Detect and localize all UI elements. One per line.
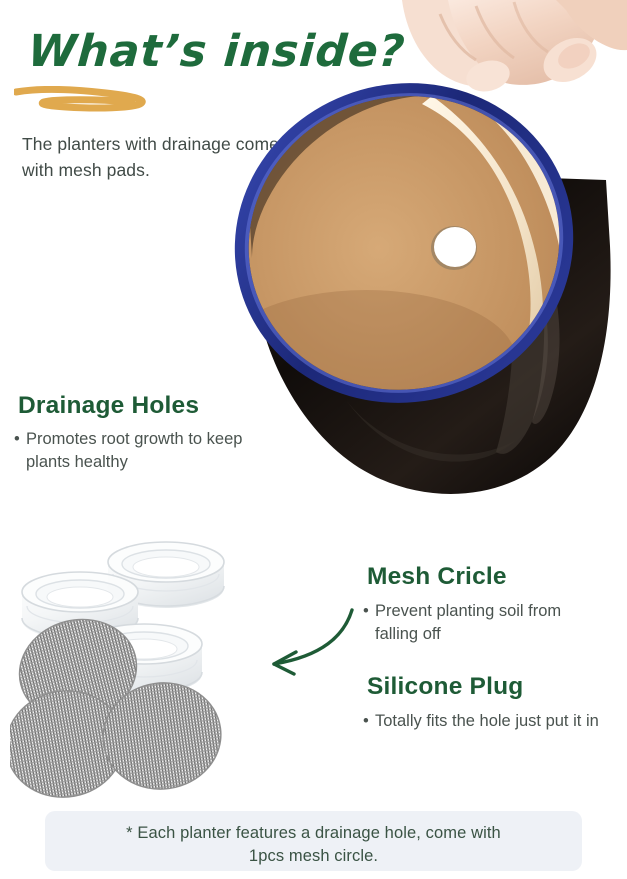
curved-arrow-icon <box>244 600 364 680</box>
plug-body-text: Totally fits the hole just put it in <box>363 710 615 733</box>
hand <box>402 0 627 96</box>
drainage-body: • Promotes root growth to keep plants he… <box>14 428 244 475</box>
drainage-heading: Drainage Holes <box>18 392 199 420</box>
footer-line-2: 1pcs mesh circle. <box>249 847 378 865</box>
drainage-hole <box>434 227 476 267</box>
bullet-icon: • <box>363 600 369 623</box>
mesh-heading: Mesh Cricle <box>367 563 507 591</box>
plug-heading: Silicone Plug <box>367 673 523 701</box>
bullet-icon: • <box>14 428 20 451</box>
title-underline-swoosh <box>14 86 160 112</box>
footer-note-text: * Each planter features a drainage hole,… <box>45 822 582 868</box>
footer-note-banner: * Each planter features a drainage hole,… <box>45 811 582 871</box>
planter-pot-photo <box>226 0 627 512</box>
mesh-body-text: Prevent planting soil from falling off <box>363 600 608 647</box>
plug-body: • Totally fits the hole just put it in <box>363 710 615 733</box>
drainage-body-text: Promotes root growth to keep plants heal… <box>14 428 244 475</box>
mesh-body: • Prevent planting soil from falling off <box>363 600 608 647</box>
footer-line-1: * Each planter features a drainage hole,… <box>126 824 501 842</box>
bullet-icon: • <box>363 710 369 733</box>
infographic-page: What’s inside? The planters with drainag… <box>0 0 627 879</box>
